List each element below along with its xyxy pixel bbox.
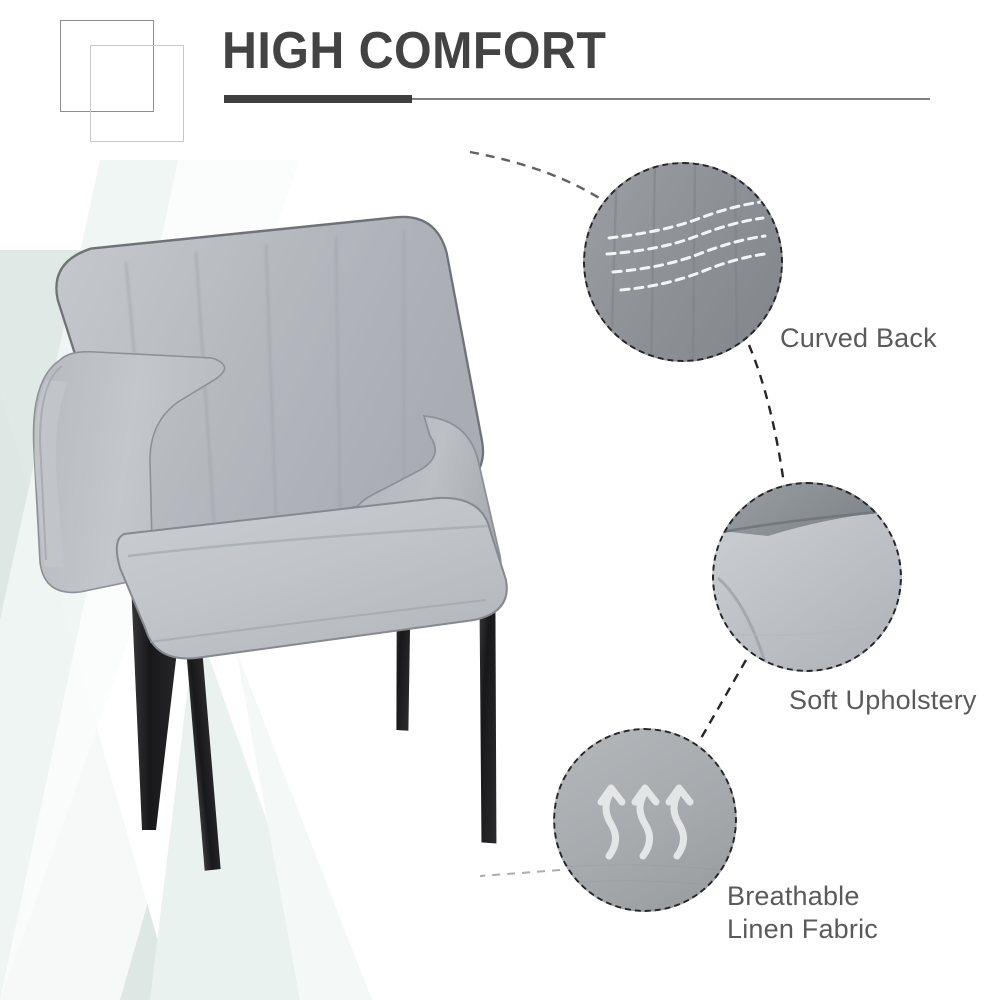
page-title: HIGH COMFORT (222, 22, 606, 80)
callout-curved-back[interactable] (583, 162, 783, 362)
callout-breathable-linen-fabric[interactable] (553, 728, 737, 912)
logo-square-front (90, 45, 184, 142)
callout-curved-back-photo (583, 162, 783, 362)
title-rule-accent (224, 95, 412, 103)
callout-label-curved-back: Curved Back (780, 322, 937, 355)
callout-label-soft-upholstery: Soft Upholstery (789, 684, 977, 717)
brand-logo-icon (60, 20, 185, 142)
product-image-armchair (0, 130, 560, 1000)
infographic-canvas: HIGH COMFORT (0, 0, 1000, 1000)
callout-soft-upholstery-photo (712, 482, 902, 672)
chair-leg-front-right (462, 586, 515, 844)
callout-breathable-linen-photo (553, 728, 737, 912)
callout-soft-upholstery[interactable] (712, 482, 902, 672)
header: HIGH COMFORT (0, 0, 1000, 120)
title-rule-line (412, 98, 930, 100)
callout-label-breathable-linen-fabric: Breathable Linen Fabric (727, 880, 878, 946)
